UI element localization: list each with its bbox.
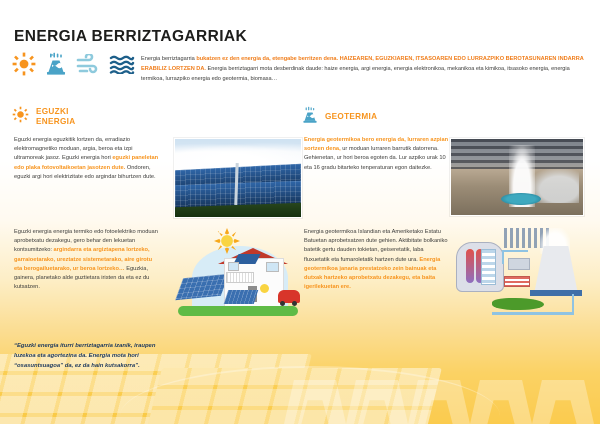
section-title-line2: ENERGIA <box>36 117 75 126</box>
sun-icon <box>12 52 36 76</box>
section-title-eguzki: EGUZKI ENERGIA <box>36 107 75 128</box>
section-title-geotermia: GEOTERMIA <box>325 112 377 123</box>
infographic-page: ENERGIA BERRIZTAGARRIAK <box>0 0 600 424</box>
intro-rest: Energia berriztagarri mota desberdinak d… <box>141 66 570 82</box>
pull-quote: “Eguzki energia iturri berriztagarria iz… <box>14 341 166 371</box>
section-header-eguzki: EGUZKI ENERGIA <box>12 104 302 130</box>
eguzki-body: Eguzki energia eguzkitik lortzen da, err… <box>12 136 302 416</box>
eguzki-paragraph-2: Eguzki energia energia termiko edo fotoe… <box>14 228 160 293</box>
intro-lead: Energia berriztagarria <box>141 56 196 62</box>
geotermia-paragraph-2: Energia geotermikoa Islandian eta Amerik… <box>304 228 450 293</box>
section-title-line1: EGUZKI <box>36 107 69 116</box>
geothermal-icon <box>45 52 67 76</box>
sun-icon <box>12 106 29 128</box>
geothermal-plant-illustration <box>452 228 584 332</box>
section-title-line1: GEOTERMIA <box>325 112 377 121</box>
intro-paragraph: Energia berriztagarria bukatzen ez den e… <box>141 54 593 85</box>
geyser-photo <box>450 138 584 216</box>
section-geotermia: GEOTERMIA Energia geotermikoa bero energ… <box>302 104 592 416</box>
page-title: ENERGIA BERRIZTAGARRIAK <box>14 28 247 46</box>
section-header-geotermia: GEOTERMIA <box>302 104 592 130</box>
waves-icon <box>109 54 135 74</box>
wind-icon <box>76 54 100 74</box>
solar-house-illustration <box>174 228 302 330</box>
geotermia-body: Energia geotermikoa bero energia da, lur… <box>302 136 592 416</box>
solar-panel-photo <box>174 138 302 218</box>
geotermia-paragraph-1: Energia geotermikoa bero energia da, lur… <box>304 136 450 173</box>
geothermal-icon <box>302 106 318 129</box>
header-energy-icons <box>12 52 135 76</box>
eguzki-paragraph-1: Eguzki energia eguzkitik lortzen da, err… <box>14 136 160 182</box>
